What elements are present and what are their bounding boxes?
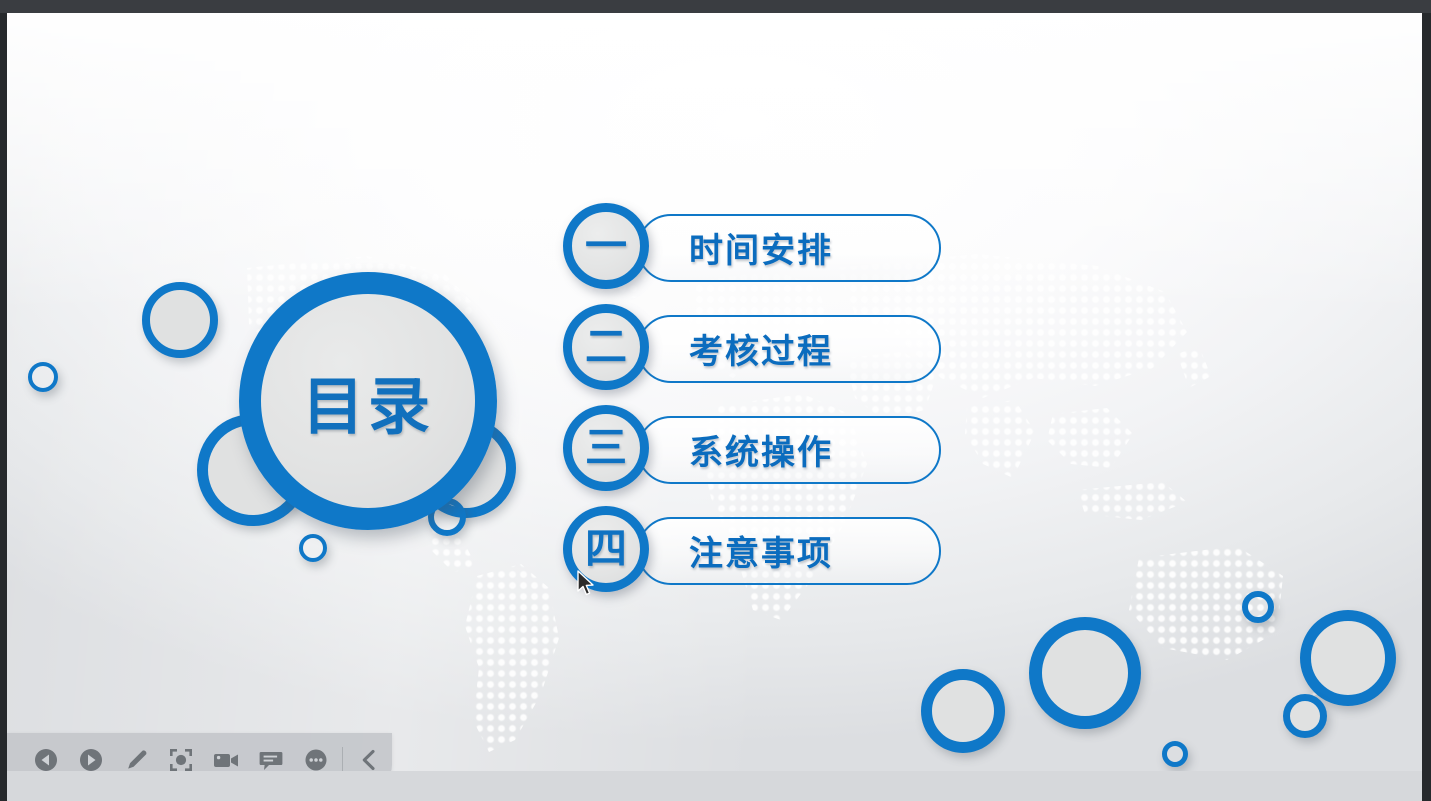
spotlight-icon (168, 747, 194, 773)
toc-item-4[interactable]: 四注意事项 (563, 506, 943, 596)
toc-item-label: 考核过程 (689, 324, 833, 373)
decor-ring-2 (142, 282, 218, 358)
decor-ring-10 (1300, 610, 1396, 706)
toc-item-label: 注意事项 (689, 526, 833, 575)
decor-ring-6 (299, 534, 327, 562)
presentation-window: 目录 一时间安排二考核过程三系统操作四注意事项 (0, 0, 1431, 801)
decor-ring-9 (1242, 591, 1274, 623)
ellipsis-icon (303, 747, 329, 773)
toolbar-separator (342, 747, 343, 773)
toc-item-number-badge: 四 (563, 506, 649, 592)
decor-ring-8 (1029, 617, 1141, 729)
slide-bottom-strip (7, 771, 1422, 801)
contents-medallion-label: 目录 (302, 356, 434, 446)
comment-icon (258, 747, 284, 773)
toc-item-number-badge: 二 (563, 304, 649, 390)
toc-item-1[interactable]: 一时间安排 (563, 203, 943, 293)
decor-ring-1 (28, 362, 58, 392)
next-icon (78, 747, 104, 773)
toc-item-3[interactable]: 三系统操作 (563, 405, 943, 495)
decor-ring-7 (921, 669, 1005, 753)
toc-item-number: 四 (585, 528, 627, 570)
toc-item-label: 时间安排 (689, 223, 833, 272)
window-left-border (0, 13, 7, 801)
previous-icon (33, 747, 59, 773)
window-right-border (1422, 13, 1431, 801)
toc-item-label: 系统操作 (689, 425, 833, 474)
video-icon (212, 747, 240, 773)
toc-item-number: 二 (585, 326, 627, 368)
pencil-icon (123, 747, 149, 773)
window-title-bar (0, 0, 1431, 13)
toc-item-number: 三 (585, 427, 627, 469)
decor-ring-12 (1162, 741, 1188, 767)
toc-item-number: 一 (585, 225, 627, 267)
slide-canvas[interactable]: 目录 一时间安排二考核过程三系统操作四注意事项 (7, 13, 1422, 801)
chevron-left-icon (358, 747, 380, 773)
decor-ring-11 (1283, 694, 1327, 738)
contents-medallion: 目录 (239, 272, 497, 530)
toc-item-number-badge: 一 (563, 203, 649, 289)
toc-item-number-badge: 三 (563, 405, 649, 491)
toc-item-2[interactable]: 二考核过程 (563, 304, 943, 394)
